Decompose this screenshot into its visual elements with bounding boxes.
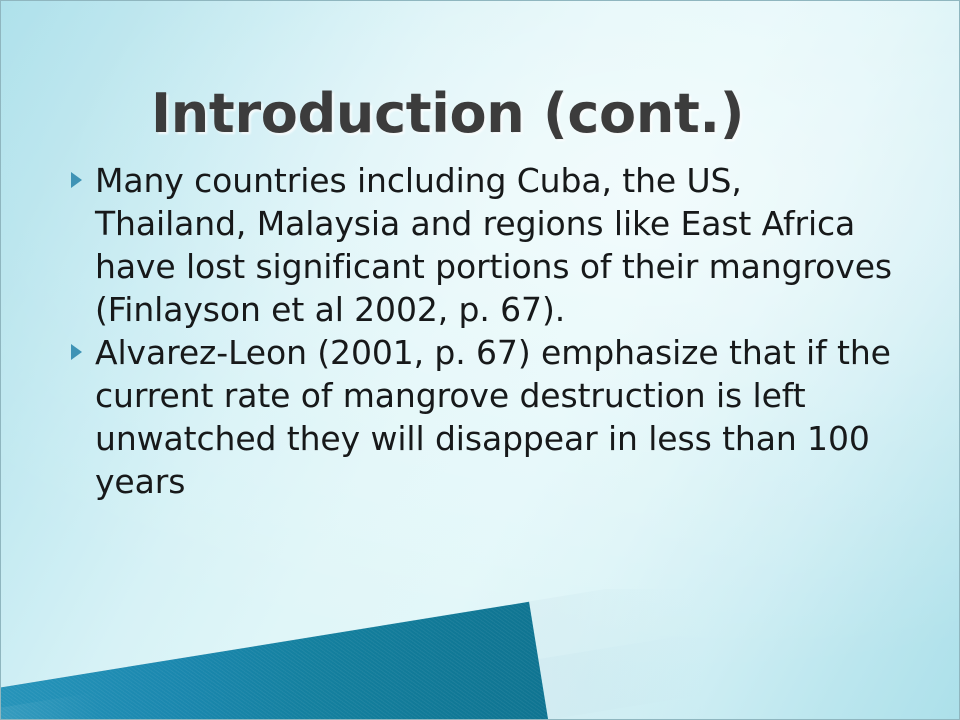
corner-decoration [1,589,701,719]
decoration-wedge-highlight [1,692,119,719]
triangle-right-icon [71,172,82,188]
decoration-blue-wedge [1,602,553,719]
list-item-text: Alvarez-Leon (2001, p. 67) emphasize tha… [95,333,891,501]
list-item: Many countries including Cuba, the US, T… [65,159,895,331]
slide-body: Many countries including Cuba, the US, T… [65,159,895,503]
decoration-faint-band [283,633,701,719]
list-item: Alvarez-Leon (2001, p. 67) emphasize tha… [65,331,895,503]
list-item-text: Many countries including Cuba, the US, T… [95,161,892,329]
decoration-black-stripe [1,619,514,719]
decoration-light-band [1,589,701,719]
page-title: Introduction (cont.) [151,85,911,143]
triangle-right-icon [71,344,82,360]
slide: Introduction (cont.) Many countries incl… [0,0,960,720]
